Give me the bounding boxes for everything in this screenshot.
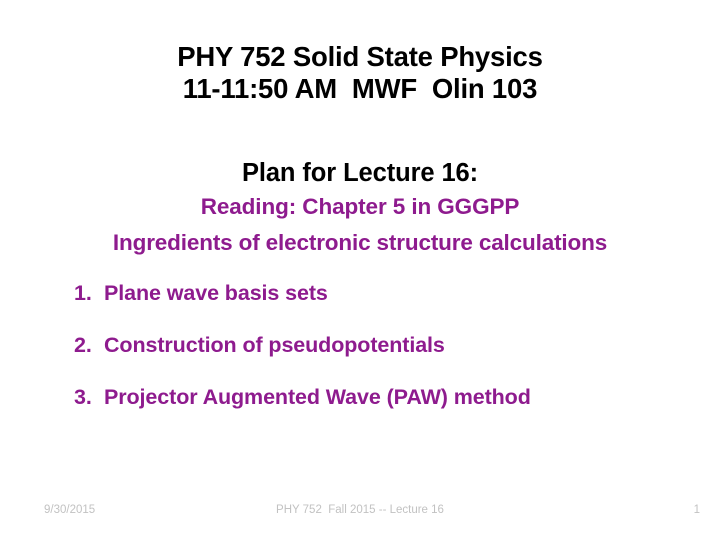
course-title-line-1: PHY 752 Solid State Physics <box>40 41 680 73</box>
ingredients-subtitle: Ingredients of electronic structure calc… <box>22 229 698 256</box>
slide-title-block: PHY 752 Solid State Physics 11-11:50 AM … <box>40 41 680 106</box>
list-item-number: 2. <box>74 332 104 358</box>
slide-footer: 9/30/2015 PHY 752 Fall 2015 -- Lecture 1… <box>0 503 720 521</box>
list-item-number: 3. <box>74 384 104 410</box>
footer-page-number: 1 <box>0 503 700 517</box>
list-item-number: 1. <box>74 280 104 306</box>
outline-list: 1. Plane wave basis sets 2. Construction… <box>74 280 694 437</box>
list-item-label: Plane wave basis sets <box>104 280 328 306</box>
list-item-label: Projector Augmented Wave (PAW) method <box>104 384 531 410</box>
list-item-label: Construction of pseudopotentials <box>104 332 445 358</box>
list-item: 1. Plane wave basis sets <box>74 280 694 306</box>
list-item: 3. Projector Augmented Wave (PAW) method <box>74 384 694 410</box>
list-item: 2. Construction of pseudopotentials <box>74 332 694 358</box>
course-title-line-2: 11-11:50 AM MWF Olin 103 <box>40 73 680 105</box>
reading-assignment: Reading: Chapter 5 in GGGPP <box>40 193 680 220</box>
plan-block: Plan for Lecture 16: Reading: Chapter 5 … <box>40 158 680 220</box>
lecture-slide: PHY 752 Solid State Physics 11-11:50 AM … <box>0 0 720 540</box>
plan-heading: Plan for Lecture 16: <box>40 158 680 189</box>
